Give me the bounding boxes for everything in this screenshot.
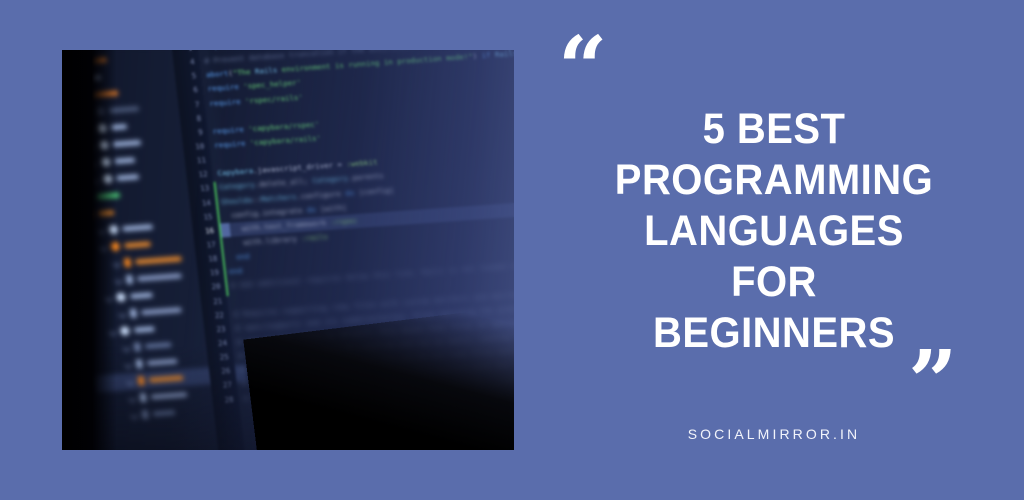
line-number: 5: [174, 69, 197, 85]
title-line-2: PROGRAMMING: [542, 155, 1007, 206]
line-number: 22: [202, 308, 225, 324]
line-number: 11: [184, 154, 207, 170]
line-number: 6: [176, 83, 199, 99]
file-icon: [136, 359, 143, 368]
file-icon: [124, 258, 131, 267]
line-number: 7: [177, 97, 200, 113]
chevron-icon: [124, 361, 132, 369]
chevron-icon: [118, 310, 126, 318]
sidebar-file-label: [124, 241, 151, 248]
line-number: 23: [203, 322, 226, 338]
code-screen-photo: 3456789101112131415161718192021222324252…: [62, 50, 514, 450]
line-number: 21: [200, 294, 223, 310]
sidebar-file-label: [151, 392, 188, 400]
chevron-icon: [122, 344, 130, 352]
line-number: 10: [182, 140, 205, 156]
line-number: 4: [172, 55, 195, 71]
folder-icon: [116, 292, 126, 302]
sidebar-file-label: [122, 224, 153, 231]
line-number: 26: [208, 364, 231, 380]
monitor-bezel-left: [62, 50, 116, 450]
line-number: 12: [185, 168, 208, 184]
line-number: 14: [189, 196, 212, 212]
sidebar-file-label: [115, 157, 136, 163]
sidebar-file-label: [147, 359, 178, 366]
sidebar-file-label: [135, 256, 181, 264]
line-number: 24: [205, 336, 228, 352]
line-number: 25: [207, 350, 230, 366]
title-line-4: FOR: [542, 257, 1007, 308]
closing-quotation-mark: ”: [908, 340, 957, 426]
chevron-icon: [126, 377, 134, 385]
file-icon: [142, 410, 149, 419]
line-number: 17: [194, 238, 217, 254]
sidebar-file-label: [130, 292, 153, 299]
sidebar-file-label: [113, 140, 142, 147]
title-line-3: LANGUAGES: [542, 206, 1007, 257]
sidebar-file-label: [134, 326, 155, 332]
sidebar-file-label: [117, 174, 140, 181]
line-number: 27: [210, 378, 233, 394]
line-number: 8: [179, 111, 202, 127]
sidebar-file-label: [141, 307, 182, 315]
sidebar-file-label: [137, 273, 181, 281]
file-icon: [130, 309, 137, 318]
chevron-icon: [130, 411, 138, 419]
line-number: 16: [192, 224, 215, 240]
line-number: 19: [197, 266, 220, 282]
file-icon: [140, 393, 147, 402]
file-icon: [134, 342, 141, 351]
file-icon: [126, 275, 133, 284]
chevron-icon: [128, 394, 136, 402]
line-number: 13: [187, 182, 210, 198]
file-icon: [138, 376, 145, 385]
line-number: 15: [190, 210, 213, 226]
sidebar-file-label: [153, 410, 176, 417]
line-number: 9: [181, 126, 204, 142]
sidebar-file-label: [145, 342, 172, 349]
opening-quotation-mark: “: [558, 26, 607, 112]
line-number: 18: [195, 252, 218, 268]
folder-icon: [120, 326, 130, 336]
line-number: 28: [211, 392, 234, 408]
sidebar-file-label: [149, 375, 184, 382]
poster-canvas: 3456789101112131415161718192021222324252…: [0, 0, 1024, 500]
page-title: 5 BEST PROGRAMMING LANGUAGES FOR BEGINNE…: [542, 104, 1007, 359]
line-number: 20: [198, 280, 221, 296]
title-line-1: 5 BEST: [542, 104, 1007, 155]
